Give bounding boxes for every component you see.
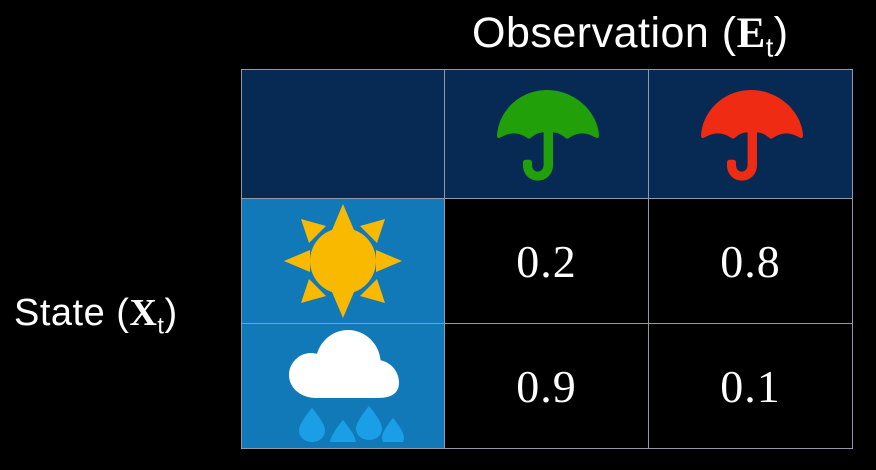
rain-cloud-icon — [242, 324, 444, 448]
observation-close-paren: ) — [774, 9, 789, 57]
probability-cell: 0.1 — [649, 324, 853, 449]
probability-cell: 0.2 — [445, 199, 649, 324]
header-cell-umbrella-red — [649, 70, 853, 199]
table-header-row — [242, 70, 853, 199]
state-label-text: State — [14, 292, 105, 334]
table-corner-cell — [242, 70, 445, 199]
state-variable: X — [129, 292, 157, 334]
observation-label-text: Observation — [472, 9, 709, 57]
state-close-paren: ) — [164, 292, 177, 334]
header-cell-umbrella-green — [445, 70, 649, 199]
observation-axis-label: Observation (Et) — [472, 12, 789, 55]
probability-cell: 0.9 — [445, 324, 649, 449]
observation-subscript: t — [766, 33, 774, 63]
sensor-model-table: 0.2 0.8 0.9 0 — [241, 69, 853, 449]
table-row: 0.2 0.8 — [242, 199, 853, 324]
observation-open-paren: ( — [709, 9, 736, 57]
table-row: 0.9 0.1 — [242, 324, 853, 449]
state-axis-label: State (Xt) — [14, 294, 178, 332]
umbrella-green-icon — [445, 70, 648, 198]
probability-cell: 0.8 — [649, 199, 853, 324]
state-cell-sunny — [242, 199, 445, 324]
observation-variable: E — [737, 10, 766, 57]
state-open-paren: ( — [105, 292, 129, 334]
state-cell-rainy — [242, 324, 445, 449]
umbrella-red-icon — [649, 70, 852, 198]
sun-icon — [242, 199, 444, 323]
